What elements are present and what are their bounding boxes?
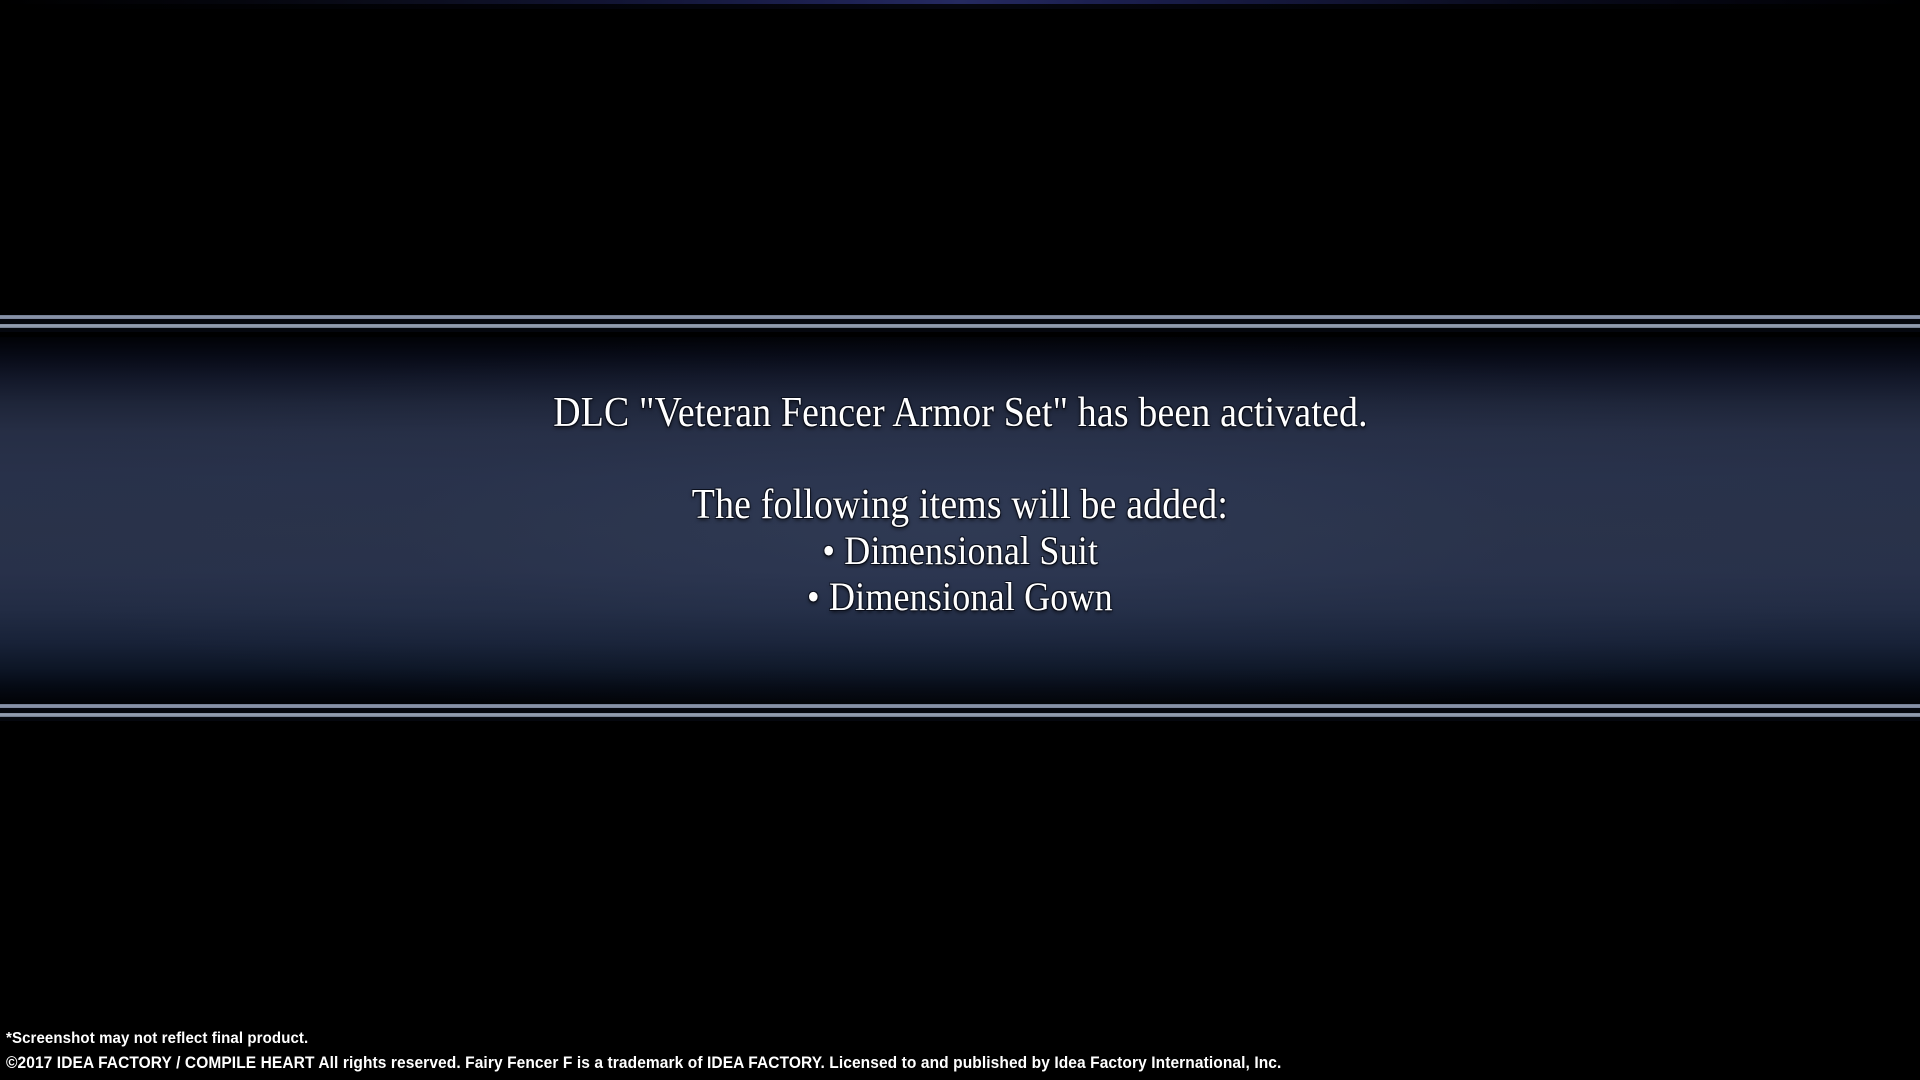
message-line-activation: DLC "Veteran Fencer Armor Set" has been … xyxy=(553,390,1367,436)
message-line-item-2: • Dimensional Gown xyxy=(807,574,1113,620)
message-line-item-1: • Dimensional Suit xyxy=(822,528,1098,574)
message-line-items-heading: The following items will be added: xyxy=(692,482,1228,528)
divider-gap-lower-bottom xyxy=(0,717,1920,721)
game-dlc-notification-screen: DLC "Veteran Fencer Armor Set" has been … xyxy=(0,0,1920,1080)
top-edge-artifact-secondary xyxy=(0,4,1920,9)
message-block: DLC "Veteran Fencer Armor Set" has been … xyxy=(0,315,1920,727)
footer-copyright: ©2017 IDEA FACTORY / COMPILE HEART All r… xyxy=(6,1051,1510,1076)
footer: *Screenshot may not reflect final produc… xyxy=(6,1026,1606,1076)
panel-divider-bottom xyxy=(0,702,1920,727)
footer-disclaimer: *Screenshot may not reflect final produc… xyxy=(6,1026,1510,1051)
announcement-panel: DLC "Veteran Fencer Armor Set" has been … xyxy=(0,315,1920,727)
